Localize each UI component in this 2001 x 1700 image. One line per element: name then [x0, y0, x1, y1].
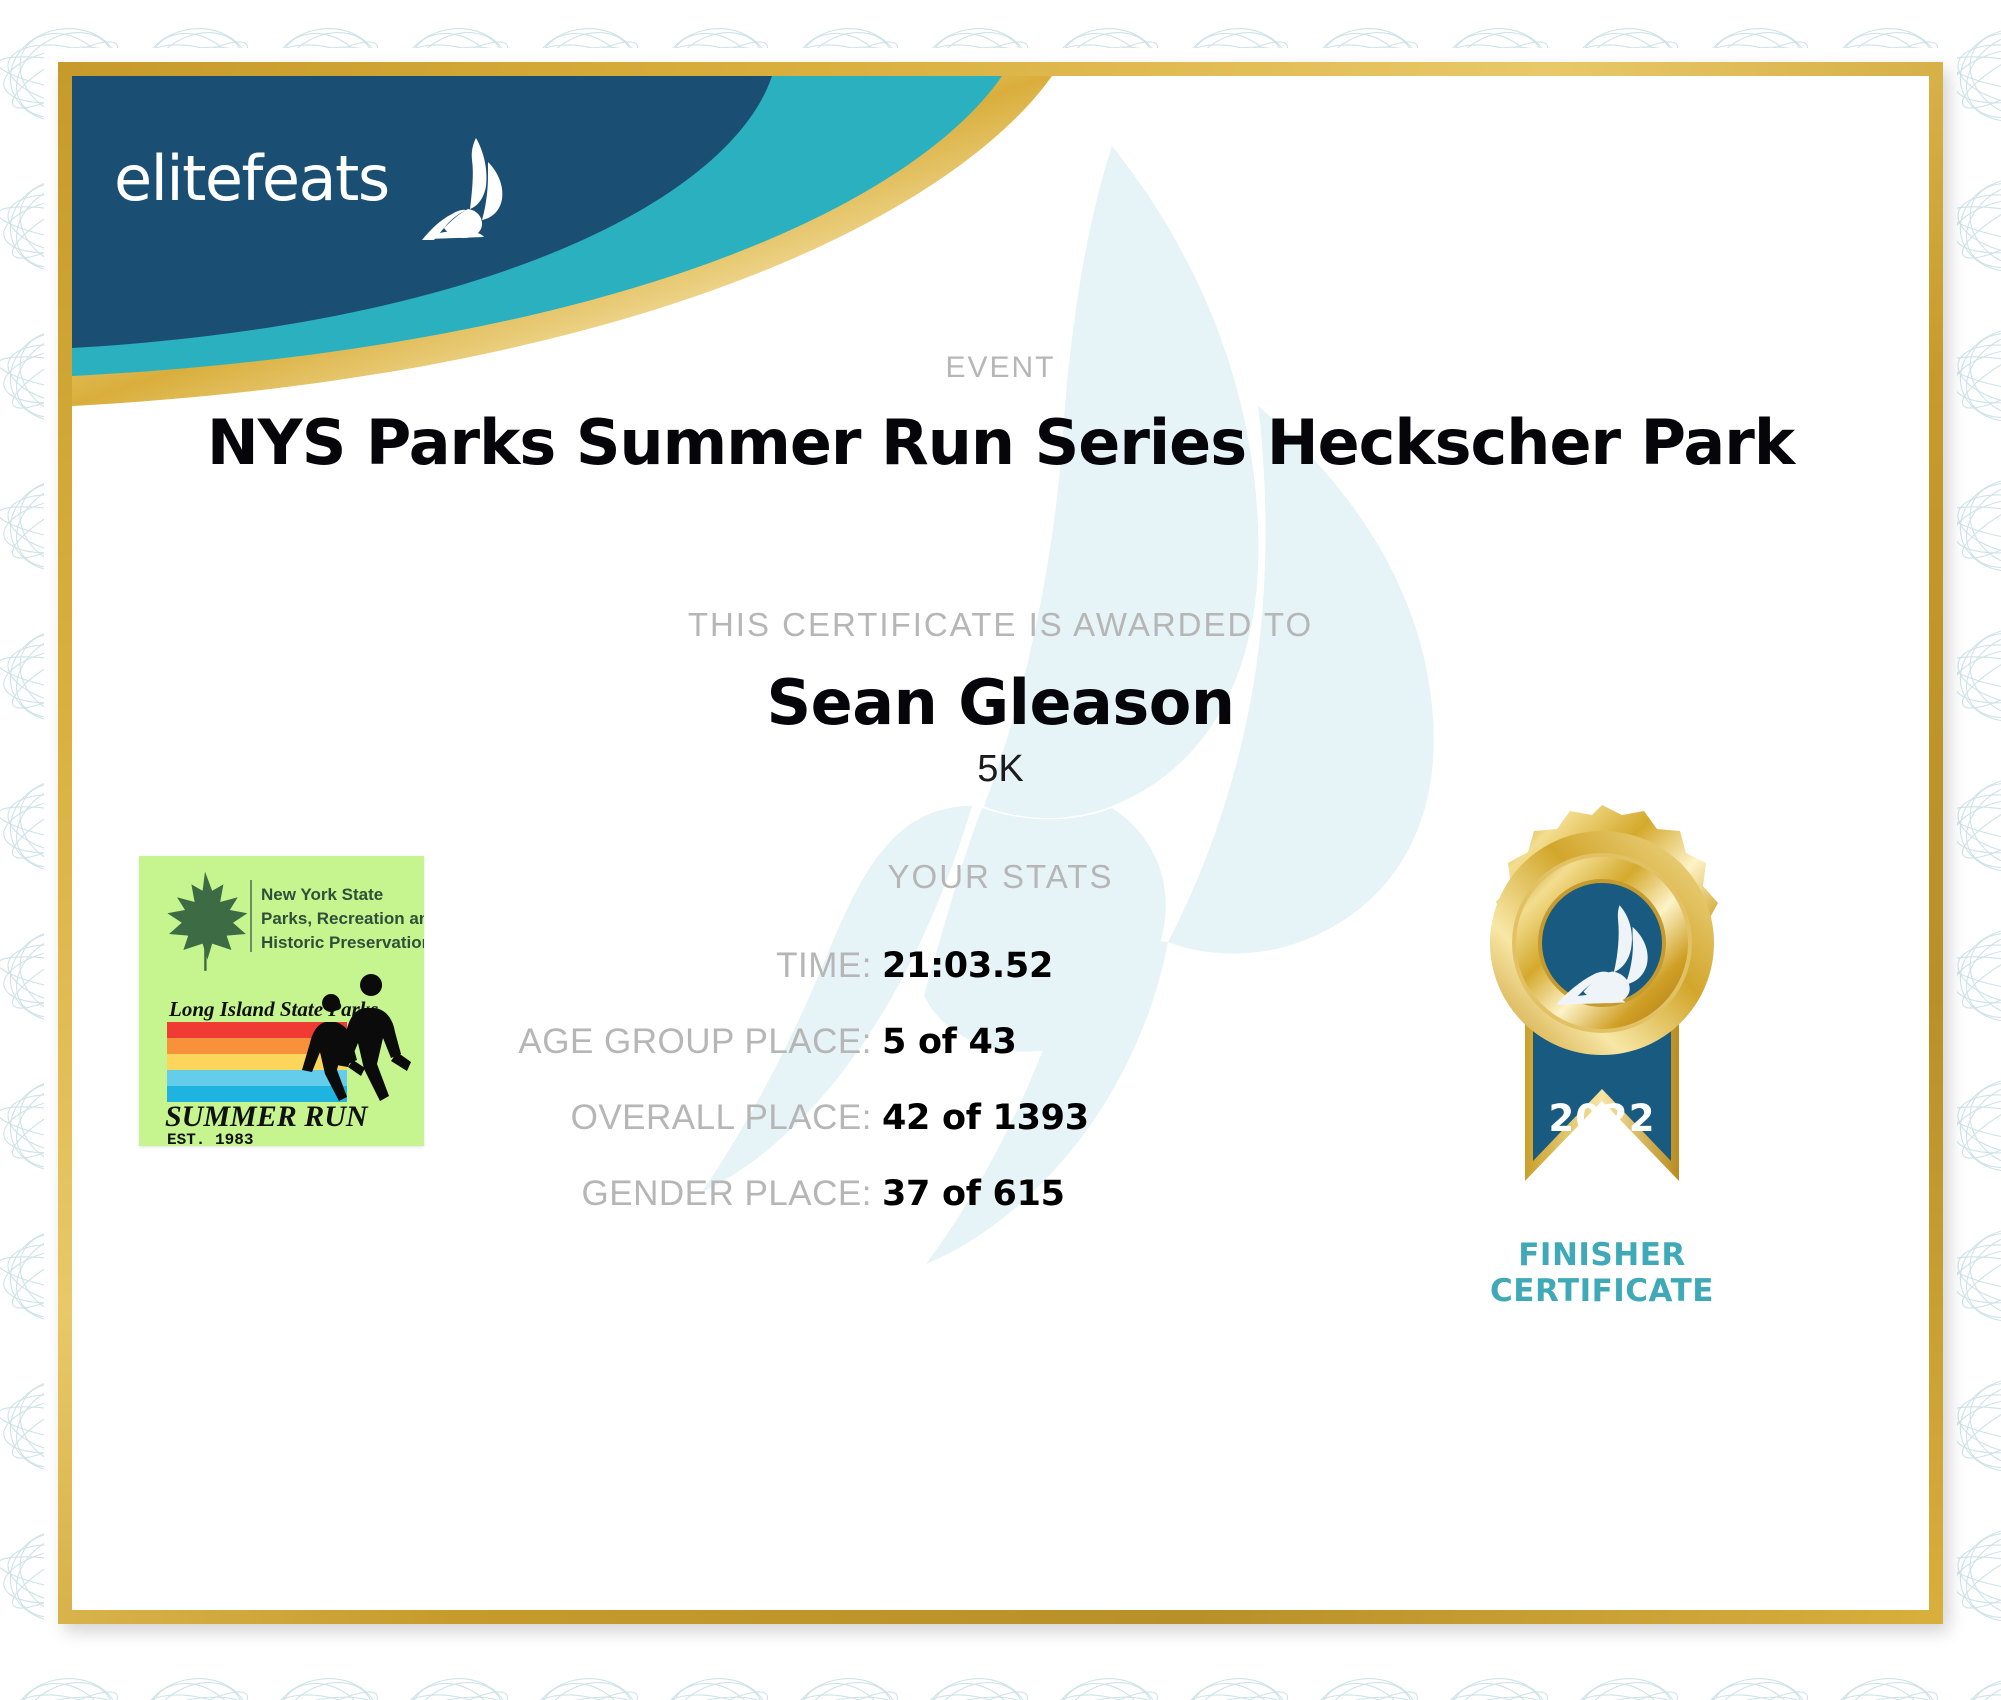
badge-year: 2022 [1549, 1097, 1656, 1140]
stat-value: 21:03.52 [882, 946, 1332, 986]
badge-rosette [1490, 805, 1718, 1055]
awarded-to-label: THIS CERTIFICATE IS AWARDED TO [72, 606, 1929, 644]
elitefeats-wordmark: elitefeats [114, 148, 389, 210]
sponsor-logo: New York State Parks, Recreation and His… [139, 856, 424, 1146]
sponsor-series-name: SUMMER RUN [165, 1100, 369, 1133]
recipient-name: Sean Gleason [72, 666, 1929, 739]
sponsor-agency-line1: New York State [261, 885, 383, 904]
sponsor-agency-line2: Parks, Recreation and [261, 909, 424, 928]
badge-caption-line2: CERTIFICATE [1490, 1273, 1714, 1309]
stat-value: 5 of 43 [882, 1022, 1332, 1062]
stats-list: TIME: 21:03.52 AGE GROUP PLACE: 5 of 43 … [372, 946, 1332, 1250]
badge-caption-line1: FINISHER [1518, 1237, 1686, 1273]
badge-caption: FINISHER CERTIFICATE [1412, 1238, 1792, 1309]
finisher-medal-badge: 2022 [1457, 801, 1747, 1271]
gold-border-frame: elitefeats EVENT NYS Parks Summer Run Se… [58, 62, 1943, 1624]
certificate-page: elitefeats EVENT NYS Parks Summer Run Se… [0, 0, 2001, 1700]
stat-row-gender-place: GENDER PLACE: 37 of 615 [372, 1174, 1332, 1222]
sponsor-established: EST. 1983 [167, 1131, 253, 1146]
elitefeats-logo: elitefeats [114, 148, 444, 243]
event-label: EVENT [72, 351, 1929, 385]
sponsor-agency-line3: Historic Preservation [261, 933, 424, 952]
stat-label: OVERALL PLACE: [372, 1098, 882, 1138]
stat-label: AGE GROUP PLACE: [372, 1022, 882, 1062]
event-title: NYS Parks Summer Run Series Heckscher Pa… [72, 406, 1929, 479]
stat-row-time: TIME: 21:03.52 [372, 946, 1332, 994]
winged-foot-icon [414, 136, 514, 240]
certificate-body: elitefeats EVENT NYS Parks Summer Run Se… [72, 76, 1929, 1610]
sponsor-series-title: Long Island State Parks [168, 997, 378, 1021]
race-distance: 5K [72, 748, 1929, 791]
stat-label: GENDER PLACE: [372, 1174, 882, 1214]
stat-value: 42 of 1393 [882, 1098, 1332, 1138]
stat-value: 37 of 615 [882, 1174, 1332, 1214]
stat-label: TIME: [372, 946, 882, 986]
stat-row-age-group-place: AGE GROUP PLACE: 5 of 43 [372, 1022, 1332, 1070]
stat-row-overall-place: OVERALL PLACE: 42 of 1393 [372, 1098, 1332, 1146]
